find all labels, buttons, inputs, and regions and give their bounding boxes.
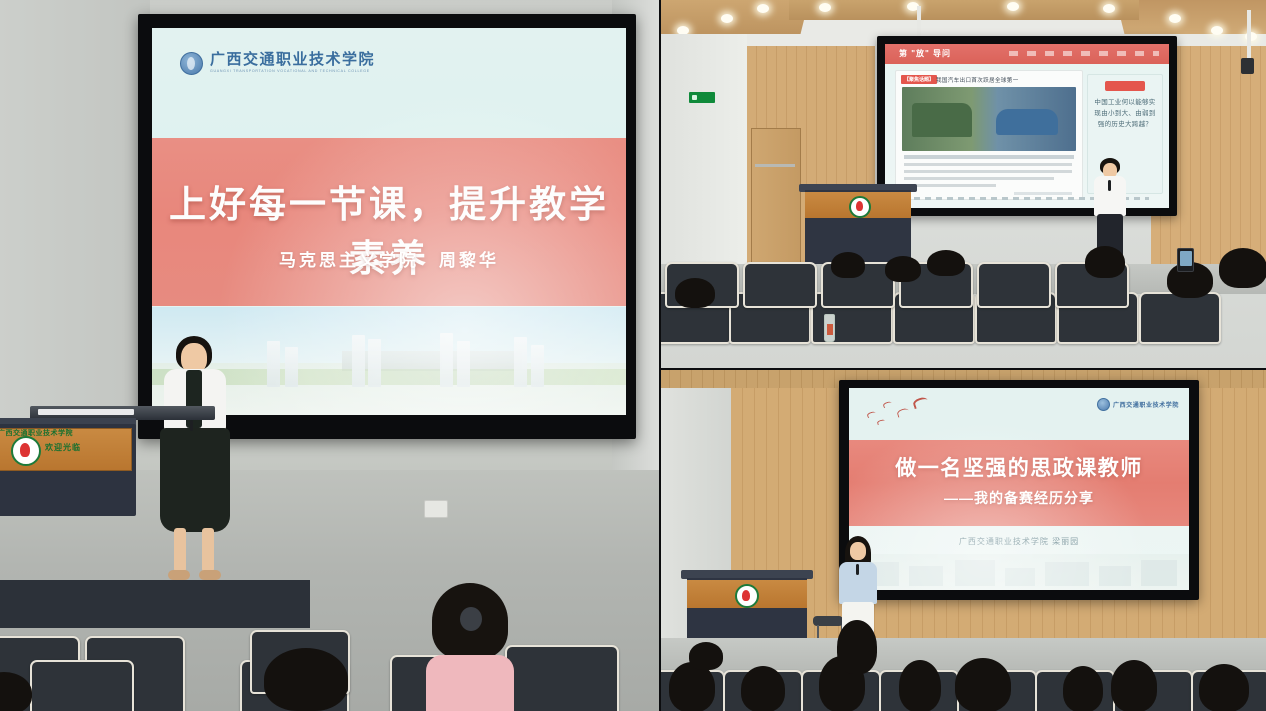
audience-seat bbox=[1139, 292, 1221, 344]
audience-head bbox=[1111, 660, 1157, 711]
downlight bbox=[1007, 2, 1019, 11]
news-body-line bbox=[904, 184, 996, 187]
right-panel-photos: 第 "放" 导问 【聚焦话题】 我国汽车出口首次跃居全球第一 中国工业何以能够实… bbox=[659, 0, 1266, 711]
audience-seat bbox=[977, 262, 1051, 308]
audience-member bbox=[424, 583, 516, 711]
presentation-slide: 广西交通职业技术学院 做一名坚强的思政课教师 ——我的备赛经历分享 广西交通职业… bbox=[849, 388, 1189, 590]
top-right-photo: 第 "放" 导问 【聚焦话题】 我国汽车出口首次跃居全球第一 中国工业何以能够实… bbox=[659, 0, 1266, 370]
photo-gate-pillar bbox=[531, 345, 544, 387]
news-body-line bbox=[904, 170, 1072, 173]
audience-head bbox=[955, 658, 1011, 711]
news-image bbox=[902, 87, 1076, 151]
photo-gate-pillar bbox=[285, 347, 298, 387]
college-emblem-icon bbox=[849, 196, 871, 218]
left-wall bbox=[0, 0, 150, 430]
audience-head bbox=[899, 660, 941, 711]
downlight bbox=[1103, 4, 1115, 13]
microphone bbox=[856, 564, 859, 575]
left-panel-photo: 广西交通职业技术学院 GUANGXI TRANSPORTATION VOCATI… bbox=[0, 0, 659, 711]
audience-head bbox=[689, 642, 723, 670]
podium-banner-right-text: 欢迎光临 bbox=[45, 442, 81, 453]
college-logo: 广西交通职业技术学院 GUANGXI TRANSPORTATION VOCATI… bbox=[180, 52, 375, 75]
speaker-shoe bbox=[168, 570, 190, 580]
audience-head bbox=[1063, 666, 1103, 711]
exit-sign-icon bbox=[689, 92, 715, 103]
audience-head bbox=[1199, 664, 1249, 711]
speaker-skirt bbox=[160, 428, 230, 532]
slide-header-area bbox=[152, 28, 626, 138]
audience-head bbox=[675, 278, 715, 308]
college-logo-name-cn: 广西交通职业技术学院 bbox=[210, 53, 375, 68]
news-image-caption bbox=[904, 155, 1074, 159]
projector-glare bbox=[849, 388, 1189, 590]
college-logo-icon bbox=[180, 52, 203, 75]
question-badge bbox=[1105, 81, 1145, 91]
header-decoration bbox=[1009, 51, 1159, 56]
photo-gate-pillar bbox=[352, 335, 365, 387]
college-logo-name-en: GUANGXI TRANSPORTATION VOCATIONAL AND TE… bbox=[210, 70, 375, 74]
left-panel-speaker bbox=[152, 336, 238, 600]
podium-banner: 广西交通职业技术学院 欢迎光临 bbox=[0, 428, 132, 471]
audience-seat bbox=[743, 262, 817, 308]
water-bottle bbox=[824, 314, 835, 342]
photo-collage: 广西交通职业技术学院 GUANGXI TRANSPORTATION VOCATI… bbox=[0, 0, 1266, 711]
ceiling-speaker-icon bbox=[1241, 58, 1254, 74]
speaker-leg bbox=[174, 528, 186, 572]
question-text: 中国工业何以能够实现由小到大、由弱到强的历史大跨越？ bbox=[1093, 97, 1157, 130]
audience-head bbox=[1085, 246, 1125, 278]
news-body-line bbox=[904, 177, 1054, 180]
college-emblem-icon bbox=[735, 584, 759, 608]
audience-head bbox=[837, 620, 877, 674]
smartphone bbox=[1177, 248, 1194, 272]
news-card: 【聚焦话题】 我国汽车出口首次跃居全球第一 bbox=[895, 70, 1083, 200]
audience-head bbox=[831, 252, 865, 278]
news-source-line bbox=[1014, 192, 1072, 195]
news-tag: 【聚焦话题】 bbox=[901, 75, 937, 84]
speaker-head bbox=[850, 542, 866, 560]
panel-divider bbox=[659, 0, 661, 711]
slide-header-text: 第 "放" 导问 bbox=[899, 48, 951, 59]
audience-shoulders bbox=[426, 655, 514, 711]
downlight bbox=[819, 3, 831, 12]
rear-equipment-cabinet bbox=[0, 580, 310, 628]
desk-control-panel bbox=[38, 409, 134, 415]
speaker-leg bbox=[202, 528, 214, 572]
photo-gate-pillar bbox=[440, 333, 453, 387]
panel-divider-horizontal bbox=[661, 368, 1266, 370]
microphone bbox=[190, 420, 193, 431]
downlight bbox=[757, 4, 769, 13]
audience-seat bbox=[505, 645, 619, 711]
photo-gate-pillar bbox=[457, 341, 470, 387]
audience-head bbox=[1219, 248, 1266, 288]
bottom-right-photo: 广西交通职业技术学院 做一名坚强的思政课教师 ——我的备赛经历分享 广西交通职业… bbox=[659, 370, 1266, 711]
slide-subtitle: 马克思主义学院 周黎华 bbox=[152, 246, 626, 271]
downlight bbox=[1211, 26, 1223, 35]
news-headline: 我国汽车出口首次跃居全球第一 bbox=[936, 76, 1019, 84]
photo-gate-pillar bbox=[267, 341, 280, 387]
wall-outlet bbox=[424, 500, 448, 518]
audience-head bbox=[885, 256, 921, 282]
podium-banner-left-text: 广西交通职业技术学院 bbox=[0, 428, 73, 438]
photo-gate-pillar bbox=[514, 337, 527, 387]
door-push-bar[interactable] bbox=[755, 164, 795, 167]
ceiling-wood-center bbox=[789, 0, 1139, 20]
photo-gate-pillar bbox=[368, 339, 381, 387]
speaker-shoe bbox=[199, 570, 221, 580]
college-emblem-icon bbox=[11, 436, 41, 466]
microphone bbox=[1108, 180, 1111, 191]
hair-clip bbox=[460, 607, 482, 631]
downlight bbox=[1169, 14, 1181, 23]
audience-head bbox=[264, 648, 348, 711]
audience-seat bbox=[30, 660, 134, 711]
audience-head bbox=[741, 666, 785, 711]
downlight bbox=[721, 14, 733, 23]
room-door[interactable] bbox=[751, 128, 801, 268]
left-wall bbox=[659, 34, 747, 264]
news-body-line bbox=[904, 163, 1072, 166]
audience-head bbox=[927, 250, 965, 276]
